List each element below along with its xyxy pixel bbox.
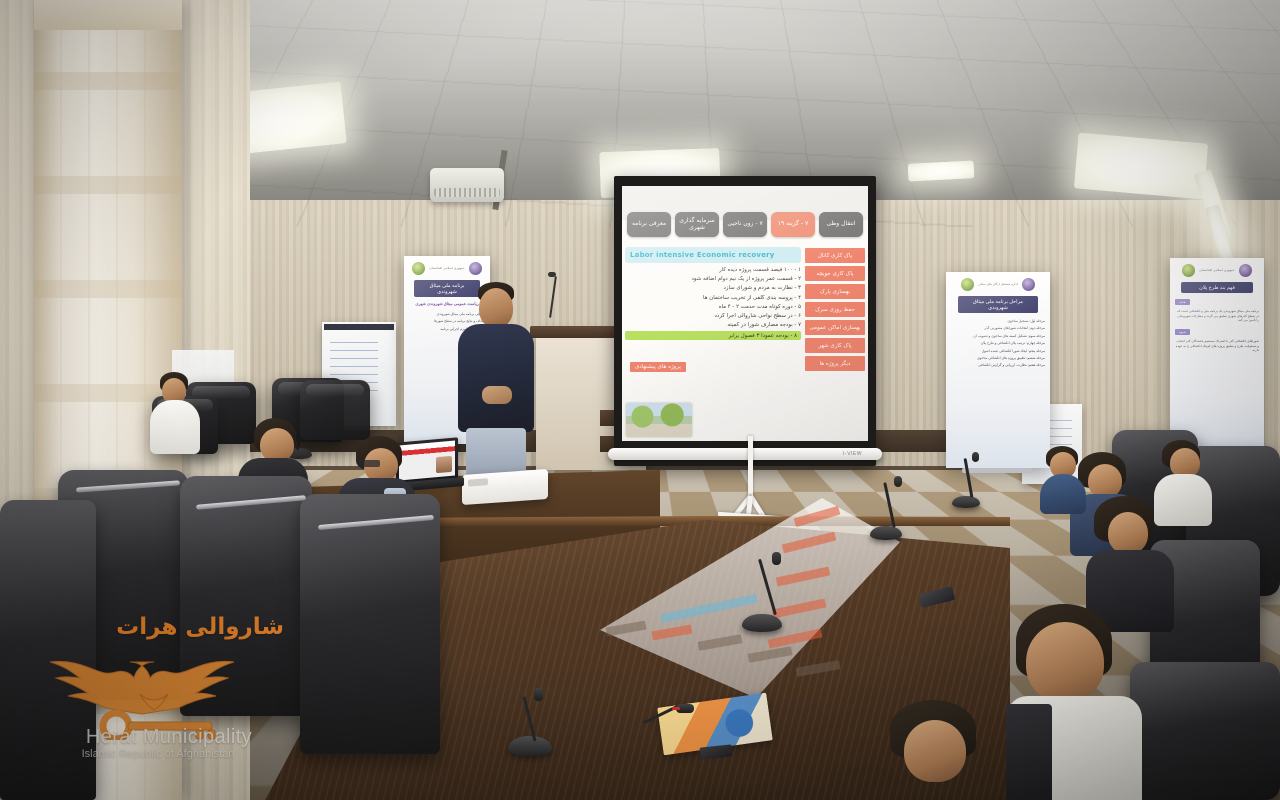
watermark-name-en: Herat Municipality (54, 726, 284, 749)
microphone-ring (672, 707, 680, 710)
screen-surface: انتقال وظی ۷ - گزینه ۱۹ ۷ - زون ناحیی سر… (622, 186, 868, 441)
banner-glare (1170, 258, 1264, 458)
banner-base (962, 468, 1032, 473)
slide-bullet-highlighted: ۸ - بودجه عمودا ۳ فصول برابر (625, 331, 801, 340)
microphone-head (772, 552, 781, 565)
attendee-head (904, 720, 966, 782)
conference-room-photo: جمهوری اسلامی افغانستان برنامه ملی میثاق… (0, 0, 1280, 800)
attendee-bottom-right (880, 700, 1020, 800)
slide-main-content: Labor intensive Economic recovery ۱ - ۱۰… (622, 244, 805, 441)
slide-tab-2: ۷ - زون ناحیی (723, 212, 767, 237)
microphone-head (534, 688, 543, 701)
eyeglasses-icon (358, 460, 380, 467)
slide-body: پاک کاری کانال پاک کاری جویچه بهسازی پار… (622, 244, 868, 441)
podium-mic-head (548, 272, 556, 277)
slide-tab-bar: انتقال وظی ۷ - گزینه ۱۹ ۷ - زون ناحیی سر… (622, 212, 868, 237)
watermark-logo: شاروالی هرات Herat Municipality Islamic … (20, 614, 288, 774)
ceiling-light-panel (1074, 132, 1208, 199)
tripod-pole (748, 436, 753, 498)
slide-bullet: ۲ - قسمت عمر پروژه از یک نیم دوام اضافه … (625, 276, 801, 282)
slide-chip: بهسازی اماکن عمومی (805, 320, 865, 335)
projector-device (462, 469, 548, 505)
microphone-head (894, 476, 902, 487)
microphone-base (952, 496, 980, 508)
slide-bullet: ۵ - دوره کوتاه مدت حدمت ۲ - ۴ ماه (625, 304, 801, 310)
attendee-head (1108, 512, 1148, 554)
microphone-head (972, 452, 979, 462)
projection-screen: انتقال وظی ۷ - گزینه ۱۹ ۷ - زون ناحیی سر… (614, 176, 876, 466)
slide-photo-park (626, 403, 692, 437)
slide-tab-1: سرمایه گذاری شهری (675, 212, 719, 237)
rollup-banner-center: اداره مستقل ارگان های محلی مراحل برنامه … (946, 272, 1050, 468)
slide-chip: پاک کاری کانال (805, 248, 865, 263)
presenter-hands (482, 386, 512, 404)
slide-tab-0: معرفی برنامه (627, 212, 671, 237)
column-capital (34, 0, 182, 30)
chair-right (1130, 662, 1280, 800)
banner-glare (946, 272, 1050, 468)
eagle-key-emblem-icon (20, 640, 288, 740)
rollup-banner-right: جمهوری اسلامی افغانستان فهم بند طرح پلان… (1170, 258, 1264, 458)
presenter (452, 282, 542, 482)
air-conditioner-icon (430, 168, 504, 202)
slide-bullet: ۴ - پروسه بندی گلفی از تخریب ساختمان ها (625, 295, 801, 301)
slide-tab-4: انتقال وظی (819, 212, 863, 237)
chair-foreground (300, 494, 440, 754)
chair-back (300, 380, 370, 440)
attendee-head (1026, 622, 1104, 702)
slide-chip: پاک کاری شهر (805, 338, 865, 353)
screen-brand-label: I-VIEW (843, 451, 862, 457)
microphone-base (870, 526, 902, 540)
attendee-right-foreground (1006, 604, 1146, 800)
slide-chip: دیگر پروژه ها (805, 356, 865, 371)
slide-chip: پاک کاری جویچه (805, 266, 865, 281)
attendee-head (1088, 464, 1122, 498)
screen-roller-bar (608, 448, 882, 460)
attendee-white-shirt (150, 400, 200, 454)
slide-bullet-list: ۱ - ۱۰۰ فیصد قسمت پروژه دیده کار ۲ - قسم… (625, 267, 801, 340)
slide-tab-3-active: ۷ - گزینه ۱۹ (771, 212, 815, 237)
watermark-subtitle-en: Islamic Republic of Afghanistan (30, 748, 286, 760)
attendee-far-left (150, 372, 200, 452)
presentation-slide: انتقال وظی ۷ - گزینه ۱۹ ۷ - زون ناحیی سر… (622, 186, 868, 441)
slide-bullet: ۷ - بودجه مصارف شورا در کمیته (625, 322, 801, 328)
microphone-base (508, 736, 552, 756)
slide-bullet: ۶ - در سطح نواحی شاروالی اجرا گردد (625, 313, 801, 319)
flipchart-clamp (324, 324, 394, 330)
slide-chip: بهسازی پارک (805, 284, 865, 299)
slide-title: Labor intensive Economic recovery (625, 247, 801, 263)
microphone-base (742, 614, 782, 632)
slide-chip: حفظ روزی سرک (805, 302, 865, 317)
slide-bullet: ۱ - ۱۰۰ فیصد قسمت پروژه دیده کار (625, 267, 801, 273)
attendee-right-back (1040, 446, 1086, 512)
presenter-shirt (458, 324, 534, 432)
presenter-head (479, 288, 513, 328)
attendee-head (260, 428, 294, 462)
slide-bullet: ۳ - نظارت به مردم و شورای سازد (625, 285, 801, 291)
slide-floating-chip: پروژه های پیشنهادی (630, 362, 686, 372)
attendee-torso (1040, 474, 1086, 514)
slide-side-chip-column: پاک کاری کانال پاک کاری جویچه بهسازی پار… (805, 244, 868, 441)
ceiling-light-panel (908, 160, 975, 181)
watermark-title-dari: شاروالی هرات (68, 614, 284, 640)
